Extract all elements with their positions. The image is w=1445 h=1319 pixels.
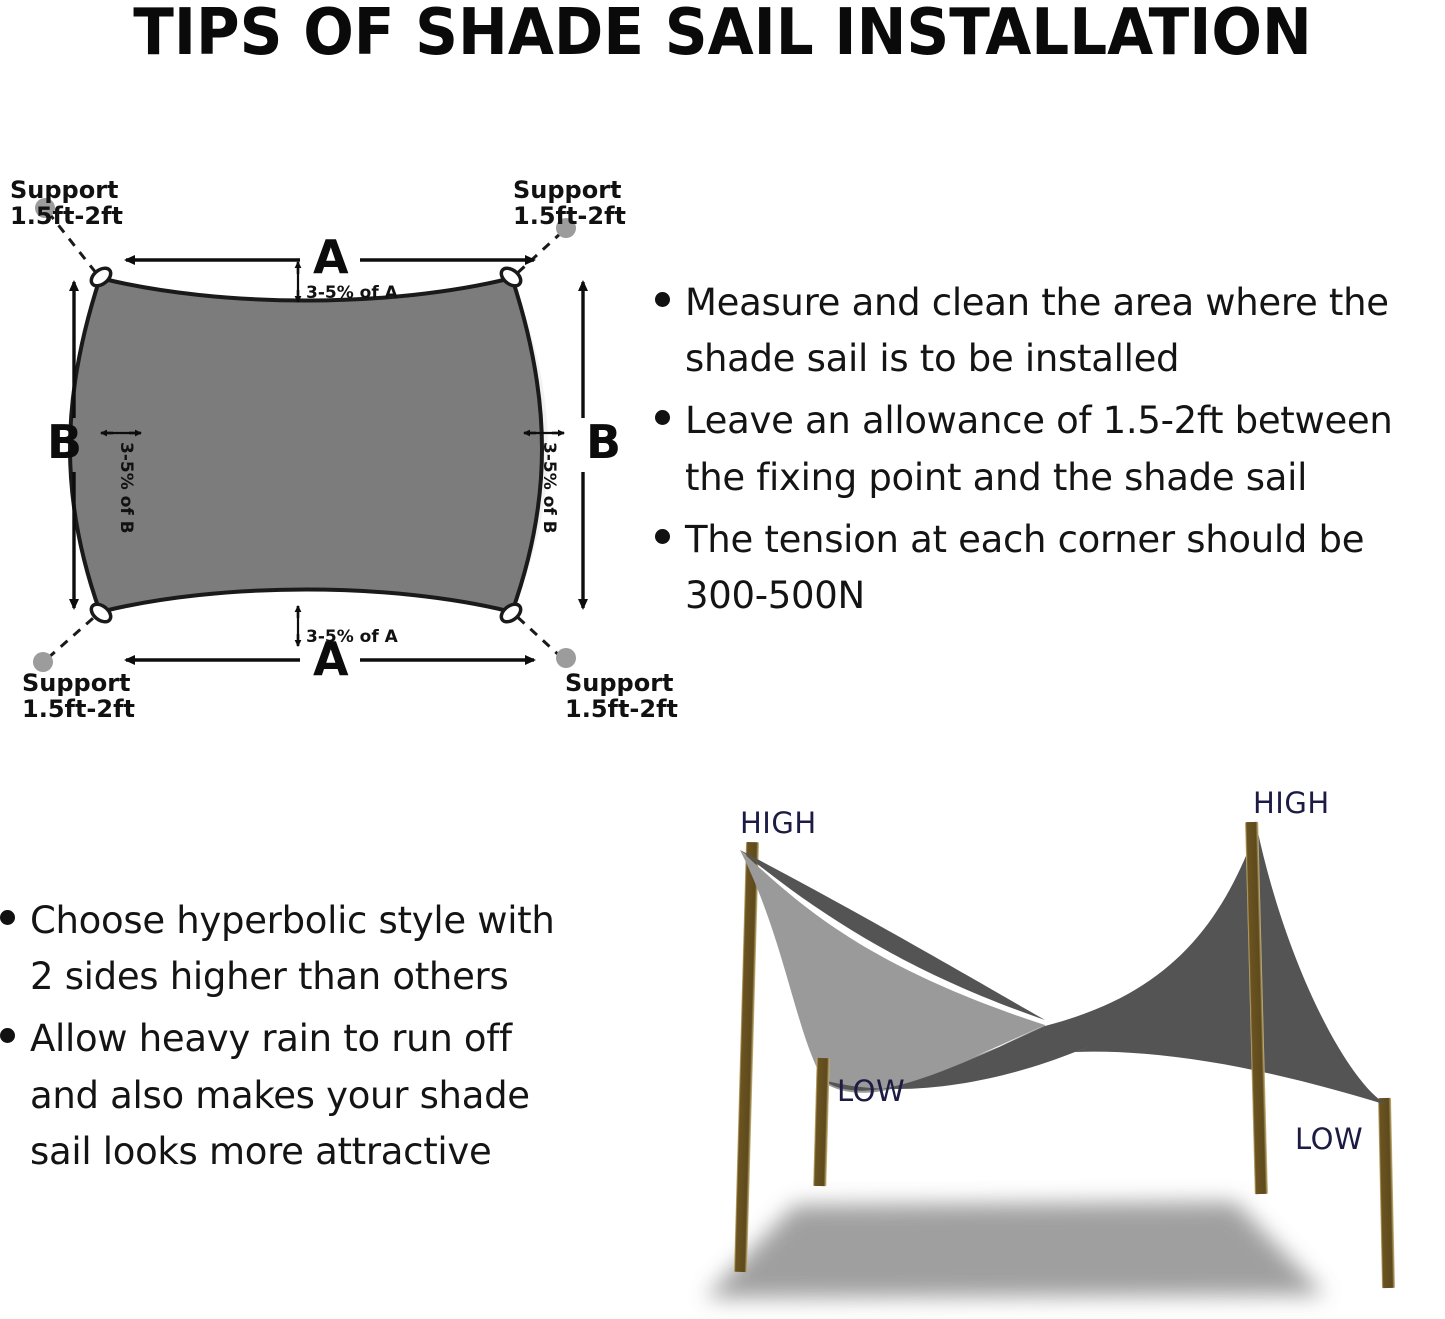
- list-item: Measure and clean the area where the sha…: [655, 275, 1445, 387]
- bullet-dot-icon: [655, 529, 670, 544]
- support-label-bottom-right: Support 1.5ft-2ft: [565, 670, 678, 723]
- curve-note-top: 3-5% of A: [306, 283, 398, 303]
- tip-text: The tension at each corner should be 300…: [685, 512, 1364, 624]
- tip-text: Leave an allowance of 1.5-2ft between th…: [685, 393, 1393, 505]
- curve-note-right: 3-5% of B: [539, 442, 559, 534]
- tip-text: Choose hyperbolic style with 2 sides hig…: [30, 893, 555, 1005]
- list-item: Choose hyperbolic style with 2 sides hig…: [0, 893, 625, 1005]
- sail-surface-dark-lower: [1075, 828, 1387, 1105]
- bullet-dot-icon: [0, 910, 15, 925]
- list-item: The tension at each corner should be 300…: [655, 512, 1445, 624]
- bullet-dot-icon: [0, 1028, 15, 1043]
- support-label-line1: Support: [22, 669, 131, 697]
- dimension-letter-b-right: B: [586, 415, 621, 469]
- dimension-letter-a-top: A: [313, 230, 349, 284]
- support-label-line1: Support: [565, 669, 674, 697]
- tip-line: The tension at each corner should be: [685, 518, 1364, 561]
- post-high-left: [734, 842, 759, 1272]
- tip-line: 300-500N: [685, 574, 865, 617]
- support-label-top-left: Support 1.5ft-2ft: [10, 177, 123, 230]
- curve-note-left: 3-5% of B: [116, 442, 136, 534]
- tip-line: Allow heavy rain to run off: [30, 1017, 512, 1060]
- hyperbolic-sail-diagram: HIGH HIGH LOW LOW: [645, 780, 1445, 1319]
- tips-list-left: Choose hyperbolic style with 2 sides hig…: [0, 893, 625, 1186]
- post-low-right: [1378, 1098, 1395, 1288]
- curve-note-bottom: 3-5% of A: [306, 627, 398, 647]
- tip-line: and also makes your shade: [30, 1074, 530, 1117]
- bullet-dot-icon: [655, 292, 670, 307]
- tip-line: shade sail is to be installed: [685, 337, 1179, 380]
- tip-text: Allow heavy rain to run off and also mak…: [30, 1011, 530, 1180]
- support-label-line1: Support: [513, 176, 622, 204]
- bullet-dot-icon: [655, 410, 670, 425]
- list-item: Allow heavy rain to run off and also mak…: [0, 1011, 625, 1180]
- support-label-line2: 1.5ft-2ft: [565, 695, 678, 723]
- tip-line: the fixing point and the shade sail: [685, 456, 1307, 499]
- label-low-left: LOW: [837, 1074, 905, 1108]
- ground-shadow: [705, 1202, 1325, 1298]
- list-item: Leave an allowance of 1.5-2ft between th…: [655, 393, 1445, 505]
- tip-line: sail looks more attractive: [30, 1130, 491, 1173]
- shade-sail-body: [70, 278, 542, 612]
- support-label-line1: Support: [10, 176, 119, 204]
- support-label-line2: 1.5ft-2ft: [513, 202, 626, 230]
- dimension-letter-b-left: B: [47, 415, 82, 469]
- label-low-right: LOW: [1295, 1122, 1363, 1156]
- tip-line: Leave an allowance of 1.5-2ft between: [685, 399, 1393, 442]
- tip-line: Choose hyperbolic style with: [30, 899, 555, 942]
- post-low-left-front: [813, 1058, 830, 1186]
- support-label-line2: 1.5ft-2ft: [22, 695, 135, 723]
- support-label-line2: 1.5ft-2ft: [10, 202, 123, 230]
- support-label-top-right: Support 1.5ft-2ft: [513, 177, 626, 230]
- support-label-bottom-left: Support 1.5ft-2ft: [22, 670, 135, 723]
- label-high-right: HIGH: [1253, 786, 1330, 820]
- tips-list-right: Measure and clean the area where the sha…: [655, 275, 1445, 630]
- hyperbolic-sail-svg: [645, 780, 1445, 1319]
- tip-text: Measure and clean the area where the sha…: [685, 275, 1389, 387]
- infographic-page: TIPS OF SHADE SAIL INSTALLATION: [0, 0, 1445, 1319]
- tip-line: Measure and clean the area where the: [685, 281, 1389, 324]
- page-title: TIPS OF SHADE SAIL INSTALLATION: [51, 0, 1395, 70]
- rectangular-sail-diagram: Support 1.5ft-2ft Support 1.5ft-2ft Supp…: [0, 150, 660, 750]
- label-high-left: HIGH: [740, 806, 817, 840]
- tip-line: 2 sides higher than others: [30, 955, 508, 998]
